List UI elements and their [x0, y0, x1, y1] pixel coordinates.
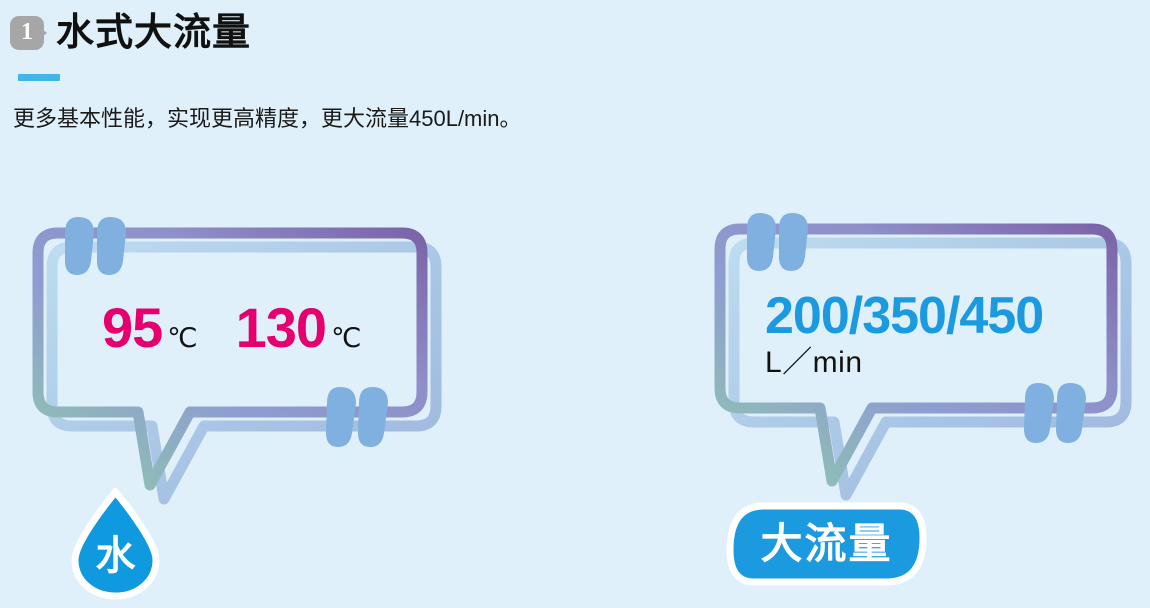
title-row: 1 水式大流量 [10, 8, 1110, 58]
temperature-value-1: 95 [102, 300, 162, 356]
temperature-unit-2: ℃ [331, 325, 361, 352]
water-drop-shape [75, 492, 156, 596]
temperature-line: 95 ℃ 130 ℃ [102, 300, 361, 356]
temperature-unit-1: ℃ [167, 325, 197, 352]
page-header: 1 水式大流量 更多基本性能，实现更高精度，更大流量450L/min。 [10, 8, 1110, 134]
panel-water-temperature: 95 ℃ 130 ℃ 水 [10, 195, 480, 608]
panels-stage: 95 ℃ 130 ℃ 水 [0, 195, 1150, 608]
water-drop-tag-icon [68, 488, 163, 600]
badge-number-label: 1 [10, 16, 44, 50]
panel-flow-rate: 200/350/450 L／min 大流量 [700, 195, 1150, 608]
flow-rate-values: 200/350/450 L／min [765, 290, 1043, 378]
temperature-values: 95 ℃ 130 ℃ [102, 300, 361, 356]
flow-rate-unit: L／min [765, 348, 1043, 378]
bubble-back-outline [52, 247, 436, 499]
flow-rate-tag-icon [724, 500, 929, 588]
page-subtitle: 更多基本性能，实现更高精度，更大流量450L/min。 [13, 105, 1110, 134]
section-number-badge: 1 [10, 16, 44, 50]
flow-rate-value: 200/350/450 [765, 290, 1043, 342]
temperature-value-2: 130 [236, 300, 326, 356]
flow-rate-tag-shape [730, 506, 923, 582]
title-divider [18, 74, 60, 81]
page-title: 水式大流量 [56, 14, 251, 52]
bubble-front-outline [38, 233, 422, 485]
